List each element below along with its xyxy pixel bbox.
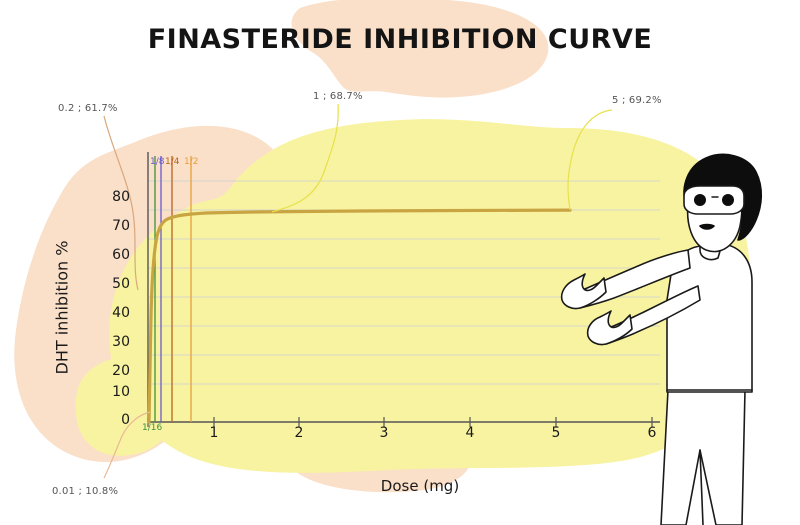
sunglass-lens-right bbox=[722, 194, 734, 206]
person-mouth bbox=[700, 225, 714, 230]
person-sunglasses bbox=[684, 186, 744, 214]
infographic-root: FINASTERIDE INHIBITION CURVE 0.2 ; 61.7%… bbox=[0, 0, 800, 525]
sunglass-lens-left bbox=[694, 194, 706, 206]
illustration-person-pointing bbox=[0, 0, 800, 525]
person-hand-lower bbox=[588, 311, 632, 345]
person-legs bbox=[661, 390, 745, 525]
